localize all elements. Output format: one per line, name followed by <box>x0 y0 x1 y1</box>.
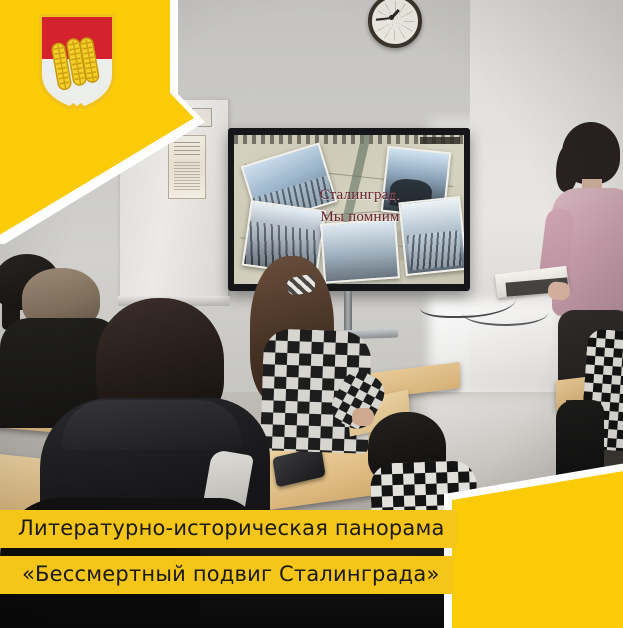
clock-center-pin <box>389 15 394 20</box>
slide-corner-badge <box>420 137 460 144</box>
display-cable <box>462 300 548 326</box>
presenter-hair <box>562 122 620 184</box>
caption-line-2: «Бессмертный подвиг Сталинграда» <box>0 556 454 594</box>
slide-title-line-1: Сталинград. <box>290 185 430 207</box>
presentation-display: Сталинград. Мы помним <box>228 128 470 291</box>
wall-poster <box>168 135 206 199</box>
clock-ticks <box>375 1 415 41</box>
poster-canvas: Сталинград. Мы помним <box>0 0 623 628</box>
slide-title: Сталинград. Мы помним <box>290 185 430 229</box>
student-jacket-collar <box>62 400 242 450</box>
display-screen: Сталинград. Мы помним <box>234 135 464 284</box>
presenter-hand <box>547 281 571 301</box>
coat-of-arms-icon <box>38 14 116 112</box>
student-hand <box>352 408 374 426</box>
caption-line-1: Литературно-историческая панорама <box>0 510 457 548</box>
caption-block: Литературно-историческая панорама «Бессм… <box>0 510 457 594</box>
slide-title-line-2: Мы помним <box>290 207 430 229</box>
